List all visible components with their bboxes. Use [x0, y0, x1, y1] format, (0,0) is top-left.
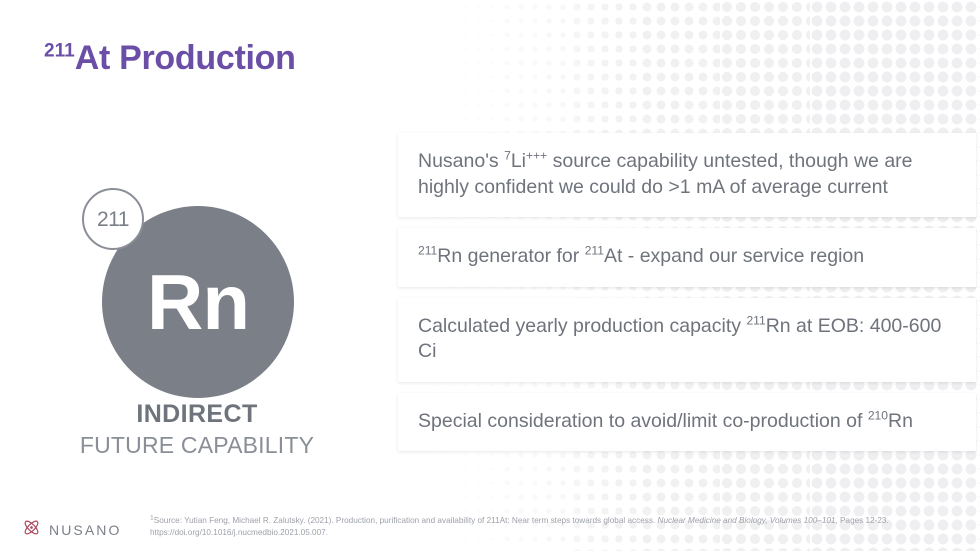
content-card[interactable]: 211Rn generator for 211At - expand our s…	[398, 228, 976, 287]
superscript-text: 211	[585, 244, 604, 258]
isotope-symbol: Rn	[102, 263, 294, 341]
body-text: Special consideration to avoid/limit co-…	[418, 410, 868, 432]
brand-logo: NUSANO	[22, 518, 122, 542]
superscript-text: 211	[746, 313, 765, 327]
superscript-text: +++	[526, 149, 547, 163]
footnote-citation: 1Source: Yutian Feng, Michael R. Zalutsk…	[150, 515, 960, 539]
isotope-mass-number: 211	[97, 209, 129, 230]
isotope-label: INDIRECT	[42, 400, 352, 429]
page-title: 211At Production	[44, 40, 296, 77]
isotope-sublabel: FUTURE CAPABILITY	[22, 432, 372, 459]
footnote-journal: Nuclear Medicine and Biology, Volumes 10…	[658, 516, 836, 525]
atom-icon	[22, 518, 41, 542]
content-card-list: Nusano's 7Li+++ source capability untest…	[398, 133, 976, 462]
superscript-text: 7	[504, 149, 511, 163]
content-card[interactable]: Calculated yearly production capacity 21…	[398, 298, 976, 382]
superscript-text: 211	[418, 244, 437, 258]
body-text: Calculated yearly production capacity	[418, 315, 746, 337]
body-text: Rn generator for	[437, 245, 584, 267]
superscript-text: 210	[868, 408, 888, 422]
content-card[interactable]: Nusano's 7Li+++ source capability untest…	[398, 133, 976, 217]
body-text: Li	[511, 150, 526, 172]
isotope-badge: Rn 211 INDIRECT FUTURE CAPABILITY	[82, 188, 312, 478]
footnote-text-before: Source: Yutian Feng, Michael R. Zalutsky…	[154, 516, 658, 525]
page-title-text: At Production	[75, 39, 296, 77]
slide-canvas: 211At Production Rn 211 INDIRECT FUTURE …	[0, 0, 980, 551]
body-text: Rn	[888, 410, 913, 432]
content-card[interactable]: Special consideration to avoid/limit co-…	[398, 393, 976, 452]
isotope-mass-bubble: 211	[82, 188, 144, 250]
body-text: Nusano's	[418, 150, 504, 172]
page-title-mass-number: 211	[44, 41, 75, 62]
brand-name: NUSANO	[49, 522, 122, 538]
body-text: At - expand our service region	[604, 245, 864, 267]
